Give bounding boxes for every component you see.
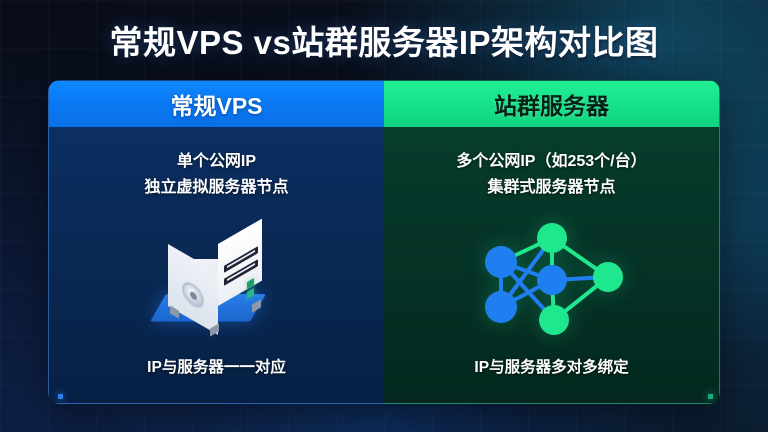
description-line-2: 集群式服务器节点 xyxy=(456,175,646,201)
network-cluster-icon xyxy=(477,222,627,334)
network-node-upper-left xyxy=(485,246,517,278)
server-tower-icon xyxy=(152,222,282,334)
panel-header-regular-vps: 常规VPS xyxy=(49,81,384,127)
panel-header-cluster-server: 站群服务器 xyxy=(384,81,719,127)
slide-canvas: 常规VPS vs站群服务器IP架构对比图 常规VPS 单个公网IP 独立虚拟服务… xyxy=(0,0,768,432)
network-graph-svg xyxy=(477,222,627,337)
description-line-1: 多个公网IP（如253个/台） xyxy=(456,149,646,175)
network-node-top xyxy=(537,223,567,253)
panel-caption-regular-vps: IP与服务器一一对应 xyxy=(147,355,286,377)
panel-caption-cluster-server: IP与服务器多对多绑定 xyxy=(474,355,628,377)
decorative-dot xyxy=(58,394,63,399)
decorative-dot xyxy=(708,394,713,399)
comparison-board: 常规VPS 单个公网IP 独立虚拟服务器节点 xyxy=(48,80,720,404)
panel-visual-cluster-server xyxy=(384,202,719,355)
description-line-2: 独立虚拟服务器节点 xyxy=(144,175,288,201)
network-node-right xyxy=(593,262,623,292)
description-line-1: 单个公网IP xyxy=(144,149,288,175)
network-node-bottom xyxy=(539,305,569,335)
network-node-lower-left xyxy=(485,291,517,323)
network-node-center xyxy=(537,265,567,295)
panel-站群-server: 站群服务器 多个公网IP（如253个/台） 集群式服务器节点 IP与服务器多对多… xyxy=(384,80,720,404)
panel-description-regular-vps: 单个公网IP 独立虚拟服务器节点 xyxy=(144,149,288,202)
panel-description-cluster-server: 多个公网IP（如253个/台） 集群式服务器节点 xyxy=(456,149,646,202)
page-title: 常规VPS vs站群服务器IP架构对比图 xyxy=(0,16,768,64)
panel-regular-vps: 常规VPS 单个公网IP 独立虚拟服务器节点 xyxy=(48,80,384,404)
panel-visual-regular-vps xyxy=(49,202,384,355)
